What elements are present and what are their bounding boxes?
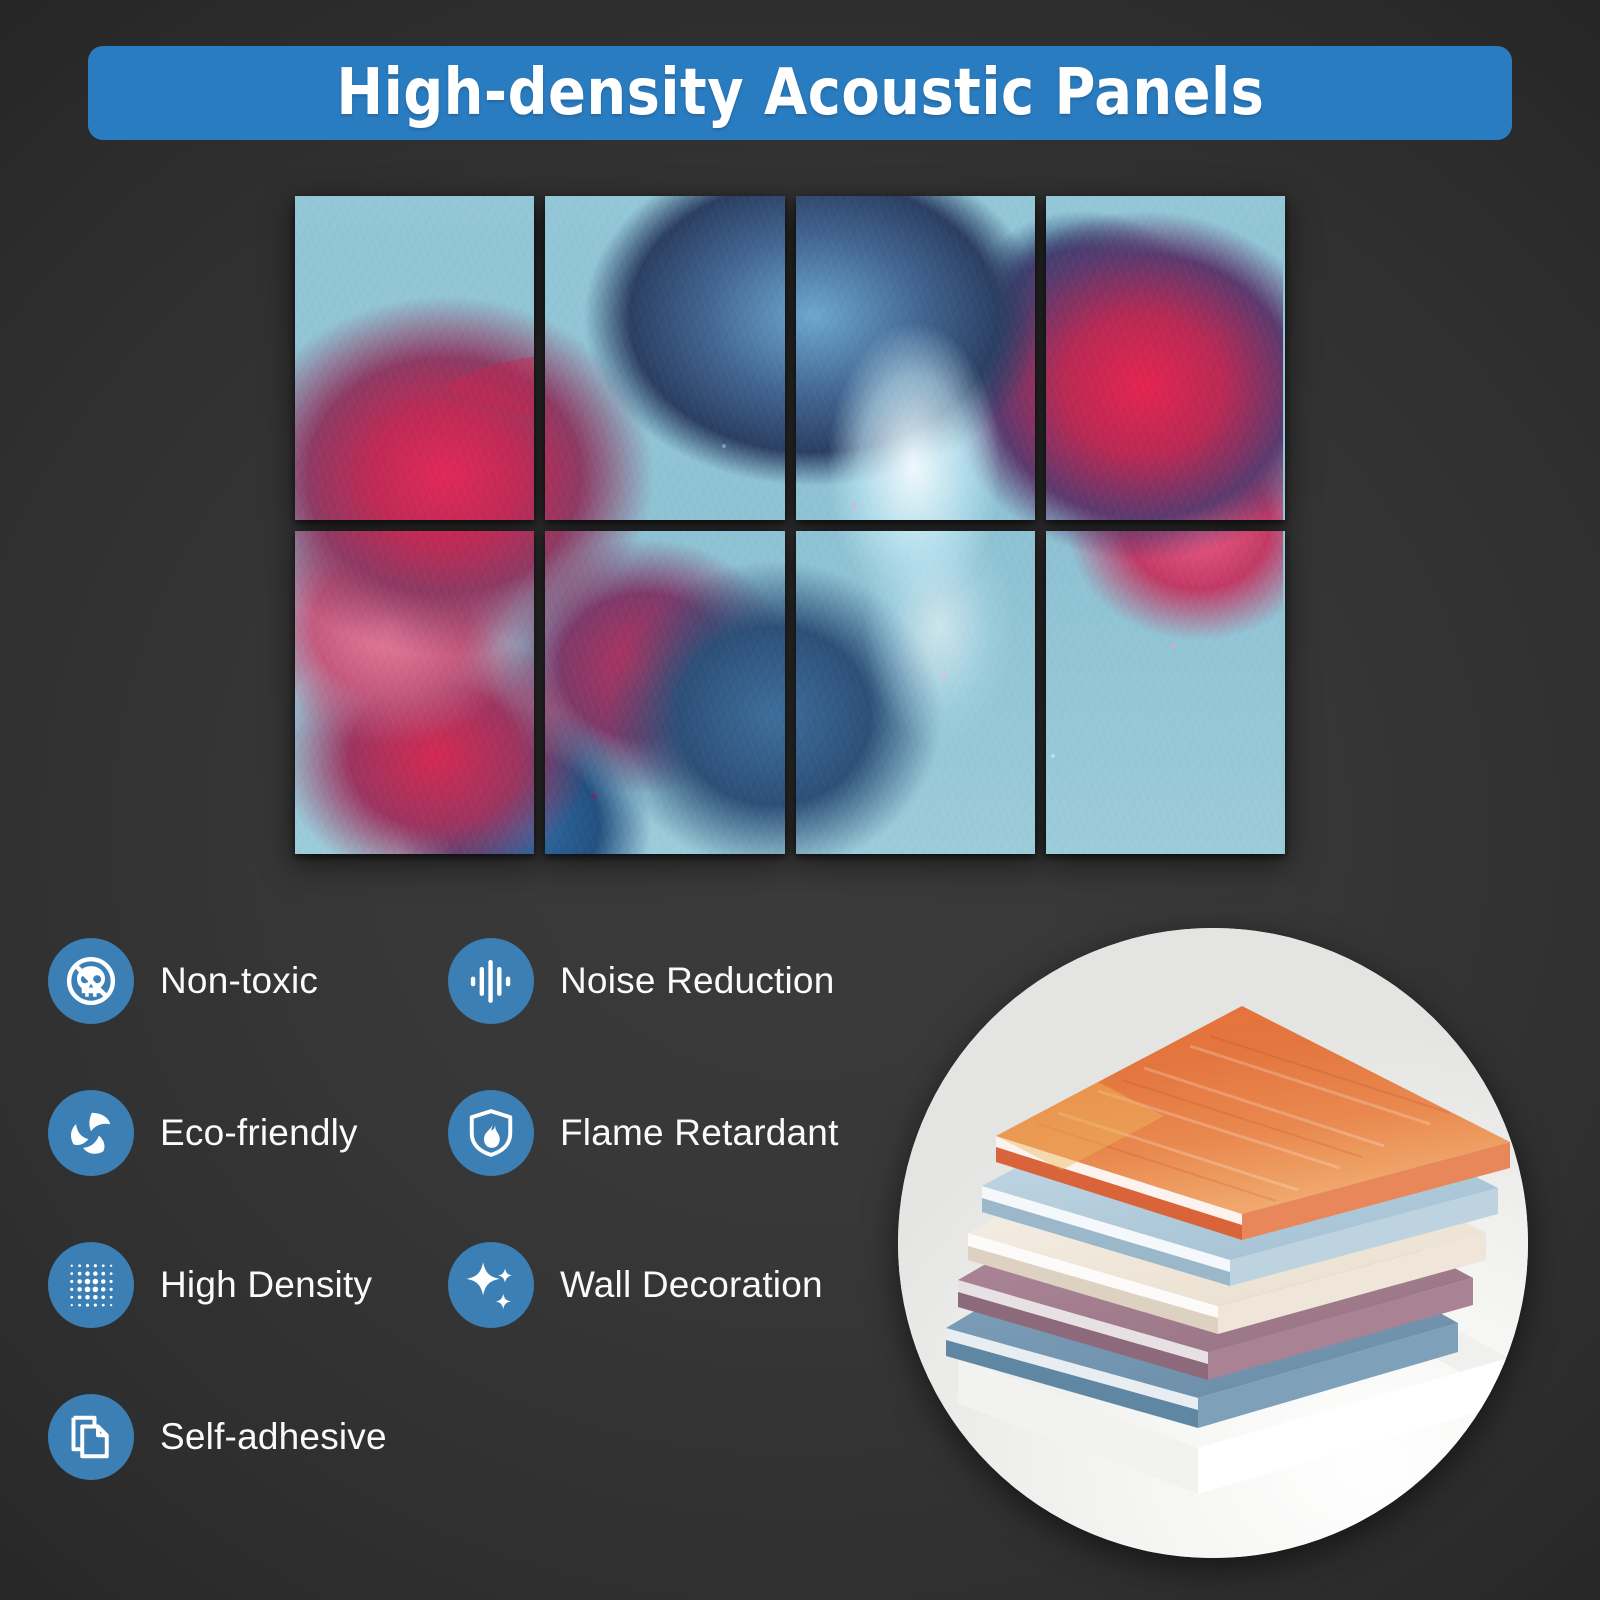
artwork-panel <box>1046 531 1285 855</box>
artwork-panel <box>796 196 1035 520</box>
feature-item-non-toxic: Non-toxic <box>48 938 318 1024</box>
feature-label: Self-adhesive <box>160 1416 387 1458</box>
shield-flame-icon <box>448 1090 534 1176</box>
feature-item-noise-reduction: Noise Reduction <box>448 938 834 1024</box>
artwork-panel <box>1046 196 1285 520</box>
artwork-panel <box>796 531 1035 855</box>
artwork-panel <box>295 531 534 855</box>
panel-stack-illustration <box>898 928 1528 1558</box>
feature-item-self-adhesive: Self-adhesive <box>48 1394 387 1480</box>
feature-item-high-density: High Density <box>48 1242 372 1328</box>
product-marketing-page: High-density Acoustic Panels <box>0 0 1600 1600</box>
feature-item-eco-friendly: Eco-friendly <box>48 1090 358 1176</box>
feature-label: Wall Decoration <box>560 1264 823 1306</box>
sound-wave-icon <box>448 938 534 1024</box>
feature-label: Flame Retardant <box>560 1112 839 1154</box>
feature-label: Noise Reduction <box>560 960 834 1002</box>
title-banner: High-density Acoustic Panels <box>88 46 1512 140</box>
leaves-recycle-icon <box>48 1090 134 1176</box>
artwork-panel <box>545 531 784 855</box>
artwork-panel <box>295 196 534 520</box>
dot-grid-icon <box>48 1242 134 1328</box>
sparkle-star-icon <box>448 1242 534 1328</box>
feature-label: Eco-friendly <box>160 1112 358 1154</box>
product-photo-stacked-panels <box>898 928 1528 1558</box>
feature-item-flame-retardant: Flame Retardant <box>448 1090 839 1176</box>
artwork-panel <box>545 196 784 520</box>
no-skull-icon <box>48 938 134 1024</box>
page-title: High-density Acoustic Panels <box>336 61 1264 125</box>
feature-label: Non-toxic <box>160 960 318 1002</box>
feature-item-wall-decoration: Wall Decoration <box>448 1242 823 1328</box>
feature-label: High Density <box>160 1264 372 1306</box>
artwork-detail-overlay <box>295 196 534 520</box>
acoustic-panel-artwork-grid <box>295 196 1285 854</box>
stacked-sheets-icon <box>48 1394 134 1480</box>
